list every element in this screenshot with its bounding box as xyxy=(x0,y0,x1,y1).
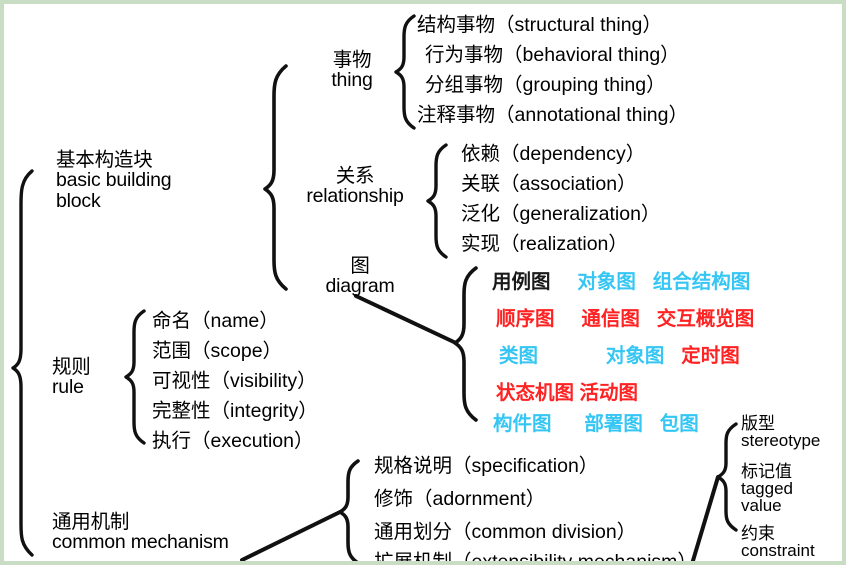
list-item-common-mechanism-3: 通用划分（common division） xyxy=(374,515,636,544)
diagram-cell-5-3: 包图 xyxy=(660,413,699,435)
node-common-mechanism-en: common mechanism xyxy=(52,532,229,552)
extension-item-constraint-en: constraint xyxy=(741,542,815,559)
brace-rule xyxy=(126,311,144,443)
extension-item-stereotype-en: stereotype xyxy=(741,432,820,449)
list-item-common-mechanism-4: 扩展机制（extensibility mechanism） xyxy=(374,545,697,565)
diagram-cell-3-1: 类图 xyxy=(499,345,538,367)
node-rule: 规则 rule xyxy=(52,357,122,398)
brace-extensibility xyxy=(718,424,736,530)
brace-thing xyxy=(396,16,414,128)
extension-item-tagged-value-en1: tagged xyxy=(741,480,793,497)
list-item-thing-1: 结构事物（structural thing） xyxy=(417,8,662,37)
diagram-cell-1-3: 组合结构图 xyxy=(653,271,751,293)
diagram-cell-4-2: 活动图 xyxy=(579,382,638,404)
list-item-relationship-2: 关联（association） xyxy=(461,167,637,196)
diagram-cell-4-1: 状态机图 xyxy=(496,382,574,404)
extension-item-tagged-value-cn: 标记值 xyxy=(741,463,793,480)
connector-common-mechanism xyxy=(242,512,340,560)
diagram-cell-3-2: 对象图 xyxy=(606,345,665,367)
diagram-cell-1-2: 对象图 xyxy=(577,271,636,293)
diagram-cell-1-1: 用例图 xyxy=(492,271,551,293)
diagram-row-5: 构件图 部署图 包图 xyxy=(493,407,699,436)
node-relationship: 关系 relationship xyxy=(287,166,423,207)
node-relationship-en: relationship xyxy=(287,186,423,206)
brace-basic-building-block xyxy=(265,66,286,289)
node-basic-building-block-en2: block xyxy=(56,191,171,211)
node-diagram-cn: 图 xyxy=(314,256,406,276)
diagram-row-2: 顺序图 通信图 交互概览图 xyxy=(496,302,754,331)
list-item-rule-2: 范围（scope） xyxy=(152,334,282,363)
extension-item-tagged-value: 标记值 tagged value xyxy=(741,463,793,514)
diagram-canvas: 基本构造块 basic building block 事物 thing 关系 r… xyxy=(0,0,846,565)
node-basic-building-block-cn: 基本构造块 xyxy=(56,150,171,170)
extension-item-stereotype-cn: 版型 xyxy=(741,415,820,432)
diagram-cell-5-2: 部署图 xyxy=(584,413,643,435)
diagram-cell-2-2: 通信图 xyxy=(581,308,640,330)
extension-item-stereotype: 版型 stereotype xyxy=(741,415,820,449)
list-item-thing-2: 行为事物（behavioral thing） xyxy=(425,38,680,67)
node-basic-building-block: 基本构造块 basic building block xyxy=(56,150,171,211)
list-item-rule-1: 命名（name） xyxy=(152,304,279,333)
list-item-thing-4: 注释事物（annotational thing） xyxy=(417,98,688,127)
brace-relationship xyxy=(428,145,446,257)
brace-diagram xyxy=(455,268,476,420)
list-item-common-mechanism-2: 修饰（adornment） xyxy=(374,482,545,511)
list-item-relationship-1: 依赖（dependency） xyxy=(461,137,645,166)
list-item-common-mechanism-1: 规格说明（specification） xyxy=(374,449,598,478)
list-item-relationship-4: 实现（realization） xyxy=(461,227,628,256)
node-common-mechanism: 通用机制 common mechanism xyxy=(52,512,229,553)
brace-root xyxy=(13,171,32,555)
list-item-relationship-3: 泛化（generalization） xyxy=(461,197,660,226)
node-common-mechanism-cn: 通用机制 xyxy=(52,512,229,532)
node-thing-en: thing xyxy=(309,70,395,90)
diagram-row-1: 用例图 对象图 组合结构图 xyxy=(492,265,750,294)
diagram-cell-3-3: 定时图 xyxy=(681,345,740,367)
diagram-cell-2-3: 交互概览图 xyxy=(657,308,755,330)
node-thing-cn: 事物 xyxy=(309,50,395,70)
diagram-cell-5-1: 构件图 xyxy=(493,413,552,435)
node-basic-building-block-en1: basic building xyxy=(56,170,171,190)
node-diagram-en: diagram xyxy=(314,276,406,296)
extension-item-constraint-cn: 约束 xyxy=(741,525,815,542)
node-relationship-cn: 关系 xyxy=(287,166,423,186)
node-rule-en: rule xyxy=(52,377,122,397)
node-rule-cn: 规则 xyxy=(52,357,122,377)
diagram-row-3: 类图 对象图 定时图 xyxy=(499,339,740,368)
list-item-rule-3: 可视性（visibility） xyxy=(152,364,317,393)
node-diagram: 图 diagram xyxy=(314,256,406,297)
list-item-thing-3: 分组事物（grouping thing） xyxy=(425,68,666,97)
list-item-rule-4: 完整性（integrity） xyxy=(152,394,318,423)
list-item-rule-5: 执行（execution） xyxy=(152,424,313,453)
connector-diagram xyxy=(356,296,456,343)
diagram-row-4: 状态机图 活动图 xyxy=(496,376,638,405)
brace-common-mechanism xyxy=(340,461,358,563)
extension-item-constraint: 约束 constraint xyxy=(741,525,815,559)
node-thing: 事物 thing xyxy=(309,50,395,91)
extension-item-tagged-value-en2: value xyxy=(741,497,793,514)
diagram-cell-2-1: 顺序图 xyxy=(496,308,555,330)
